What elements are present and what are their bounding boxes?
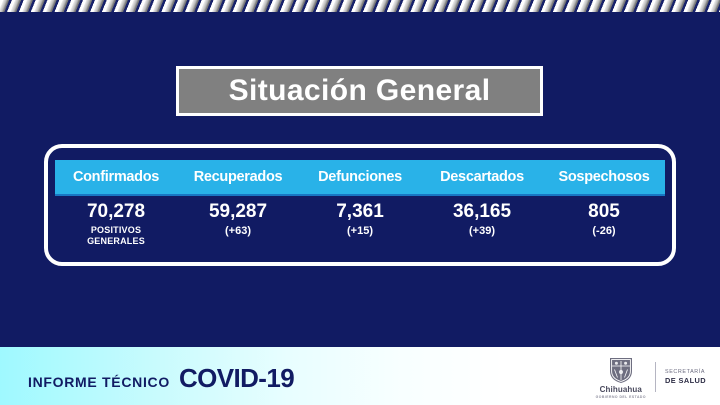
- stat-delta-sospechosos: (-26): [543, 225, 665, 238]
- column-header-descartados: Descartados: [421, 169, 543, 185]
- footer-bar: INFORME TÉCNICO COVID-19 Chihuahua GOBIE…: [0, 347, 720, 405]
- footer-brand: INFORME TÉCNICO COVID-19: [28, 363, 294, 394]
- stat-cell-sospechosos: 805 (-26): [543, 198, 665, 238]
- stat-cell-recuperados: 59,287 (+63): [177, 198, 299, 238]
- footer-report-label: INFORME TÉCNICO: [28, 374, 170, 390]
- page-title-plaque: Situación General: [176, 66, 543, 116]
- agency-name-line1: SECRETARÍA: [665, 369, 706, 375]
- column-header-confirmados: Confirmados: [55, 169, 177, 185]
- column-header-defunciones: Defunciones: [299, 169, 421, 185]
- stat-delta-defunciones: (+15): [299, 225, 421, 238]
- logo-divider: [655, 362, 656, 392]
- chihuahua-wordmark: Chihuahua: [600, 385, 642, 394]
- stat-note-confirmados: POSITIVOS GENERALES: [55, 225, 177, 248]
- stats-value-row: 70,278 POSITIVOS GENERALES 59,287 (+63) …: [55, 198, 665, 256]
- stat-value-descartados: 36,165: [421, 202, 543, 223]
- stat-delta-descartados: (+39): [421, 225, 543, 238]
- government-logos: Chihuahua GOBIERNO DEL ESTADO SECRETARÍA…: [596, 356, 706, 398]
- stats-panel: Confirmados Recuperados Defunciones Desc…: [44, 144, 676, 266]
- chihuahua-tagline: GOBIERNO DEL ESTADO: [596, 395, 646, 399]
- stat-delta-recuperados: (+63): [177, 225, 299, 238]
- column-header-recuperados: Recuperados: [177, 169, 299, 185]
- stat-cell-defunciones: 7,361 (+15): [299, 198, 421, 238]
- stat-cell-descartados: 36,165 (+39): [421, 198, 543, 238]
- column-header-sospechosos: Sospechosos: [543, 169, 665, 185]
- shield-icon: [608, 356, 634, 384]
- chihuahua-logo: Chihuahua GOBIERNO DEL ESTADO: [596, 356, 646, 399]
- stats-header-row: Confirmados Recuperados Defunciones Desc…: [55, 160, 665, 196]
- health-ministry-logo: SECRETARÍA DE SALUD: [665, 369, 706, 385]
- stat-value-confirmados: 70,278: [55, 202, 177, 223]
- covid-report-slide: Situación General Confirmados Recuperado…: [0, 0, 720, 405]
- page-title: Situación General: [229, 76, 491, 106]
- footer-report-title: COVID-19: [179, 363, 294, 394]
- stat-value-defunciones: 7,361: [299, 202, 421, 223]
- stat-cell-confirmados: 70,278 POSITIVOS GENERALES: [55, 198, 177, 247]
- diagonal-stripe-decoration: [0, 0, 720, 12]
- stat-value-sospechosos: 805: [543, 202, 665, 223]
- agency-name-line2: DE SALUD: [665, 376, 706, 385]
- stat-value-recuperados: 59,287: [177, 202, 299, 223]
